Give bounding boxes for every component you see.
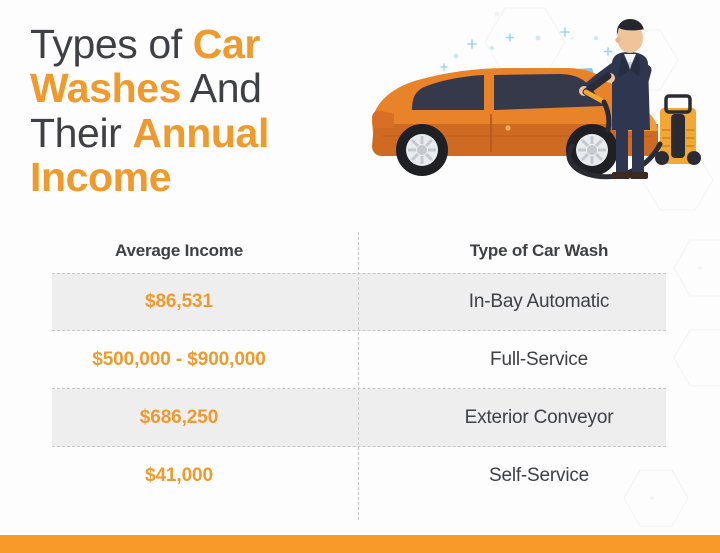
table-row[interactable]: $686,250 Exterior Conveyor	[0, 389, 720, 447]
page-title: Types of Car Washes And Their Annual Inc…	[30, 22, 360, 199]
row-divider	[52, 273, 666, 274]
row-divider	[52, 388, 666, 389]
car-wash-illustration	[360, 18, 720, 213]
cell-average-income: $500,000 - $900,000	[0, 349, 358, 371]
table-row[interactable]: $41,000 Self-Service	[0, 447, 720, 505]
title-line-4: Income	[30, 155, 360, 199]
title-word-income: Income	[30, 154, 171, 200]
title-word-annual: Annual	[132, 110, 269, 156]
row-divider	[52, 330, 666, 331]
cell-car-wash-type: Exterior Conveyor	[358, 407, 720, 429]
infographic-page: Types of Car Washes And Their Annual Inc…	[0, 0, 720, 553]
title-word-types-of: Types of	[30, 21, 193, 67]
row-divider	[52, 446, 666, 447]
title-word-car: Car	[193, 21, 260, 67]
cell-average-income: $86,531	[0, 291, 358, 313]
cell-car-wash-type: Self-Service	[358, 465, 720, 487]
bottom-accent-bar	[0, 535, 720, 553]
title-word-washes: Washes	[30, 65, 181, 111]
pressure-washer-icon	[655, 96, 701, 165]
table-header-row: Average Income Type of Car Wash	[0, 228, 720, 273]
table-row[interactable]: $86,531 In-Bay Automatic	[0, 273, 720, 331]
income-table: Average Income Type of Car Wash $86,531 …	[0, 228, 720, 505]
cell-average-income: $41,000	[0, 465, 358, 487]
column-header-type-of-car-wash: Type of Car Wash	[358, 241, 720, 261]
cell-average-income: $686,250	[0, 407, 358, 429]
title-word-and: And	[181, 65, 261, 111]
column-header-average-income: Average Income	[0, 241, 358, 261]
table-row[interactable]: $500,000 - $900,000 Full-Service	[0, 331, 720, 389]
title-line-1: Types of Car	[30, 22, 360, 66]
title-line-3: Their Annual	[30, 111, 360, 155]
title-word-their: Their	[30, 110, 132, 156]
cell-car-wash-type: Full-Service	[358, 349, 720, 371]
title-line-2: Washes And	[30, 66, 360, 110]
wheel-rear-icon	[396, 124, 448, 176]
column-divider	[358, 232, 359, 520]
cell-car-wash-type: In-Bay Automatic	[358, 291, 720, 313]
